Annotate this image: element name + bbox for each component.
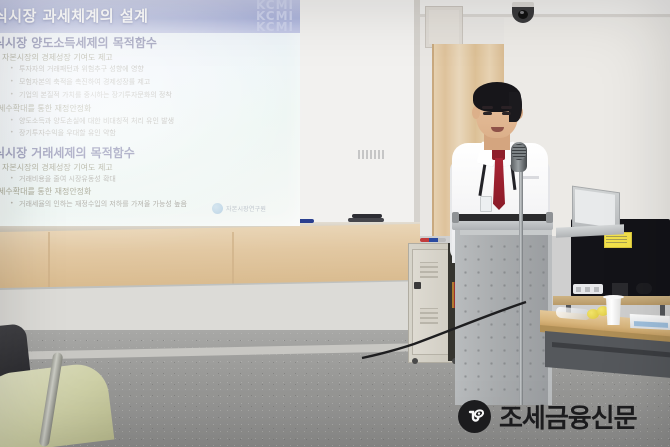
name-badge	[480, 196, 492, 212]
camera-lens-highlight	[520, 11, 524, 14]
power-outlet	[585, 287, 590, 292]
lectern-rail	[455, 214, 550, 221]
whiteboard-right-edge	[414, 0, 420, 232]
microphone-cable	[360, 300, 530, 360]
cabinet-top-markers	[420, 238, 446, 242]
projector-glow	[0, 0, 300, 226]
wood-column-edge	[432, 44, 434, 236]
speaker-eye	[502, 112, 511, 115]
projection-screen: KCMI KCMI KCMI 식시장 과세체계의 설계 식시장 양도소득세제의 …	[0, 0, 300, 226]
wainscot-seam	[232, 232, 234, 290]
computer-mouse	[636, 283, 652, 294]
microphone-stand	[519, 165, 523, 405]
laptop-screen	[575, 189, 615, 228]
power-outlet	[594, 287, 599, 292]
wall-speaker-grille	[429, 10, 459, 44]
jose-geumyung-sinmun-logo-icon	[458, 400, 491, 433]
sticky-note-writing	[606, 236, 627, 243]
speaker-eyebrow	[482, 106, 493, 109]
black-marker	[348, 218, 384, 222]
power-outlet	[576, 287, 581, 292]
credit-watermark: 조세금융신문	[458, 398, 637, 435]
necktie	[493, 158, 505, 210]
speaker-eyebrow	[501, 106, 512, 109]
cabinet-latch	[414, 282, 421, 289]
lectern-rail-cap	[452, 212, 459, 223]
wall-speaker	[425, 6, 463, 48]
wainscot-seam	[48, 232, 50, 290]
lectern-rail-cap	[546, 212, 553, 223]
microphone-grille	[512, 144, 526, 160]
cabinet-vent	[420, 262, 438, 278]
paper-cup-rim	[603, 295, 624, 299]
whiteboard-faint-writing	[358, 150, 384, 159]
black-marker	[352, 214, 382, 218]
credit-watermark-text: 조세금융신문	[499, 398, 637, 435]
presentation-photo: KCMI KCMI KCMI 식시장 과세체계의 설계 식시장 양도소득세제의 …	[0, 0, 670, 447]
speaker-eye	[483, 112, 492, 115]
wood-wainscot	[0, 224, 420, 290]
